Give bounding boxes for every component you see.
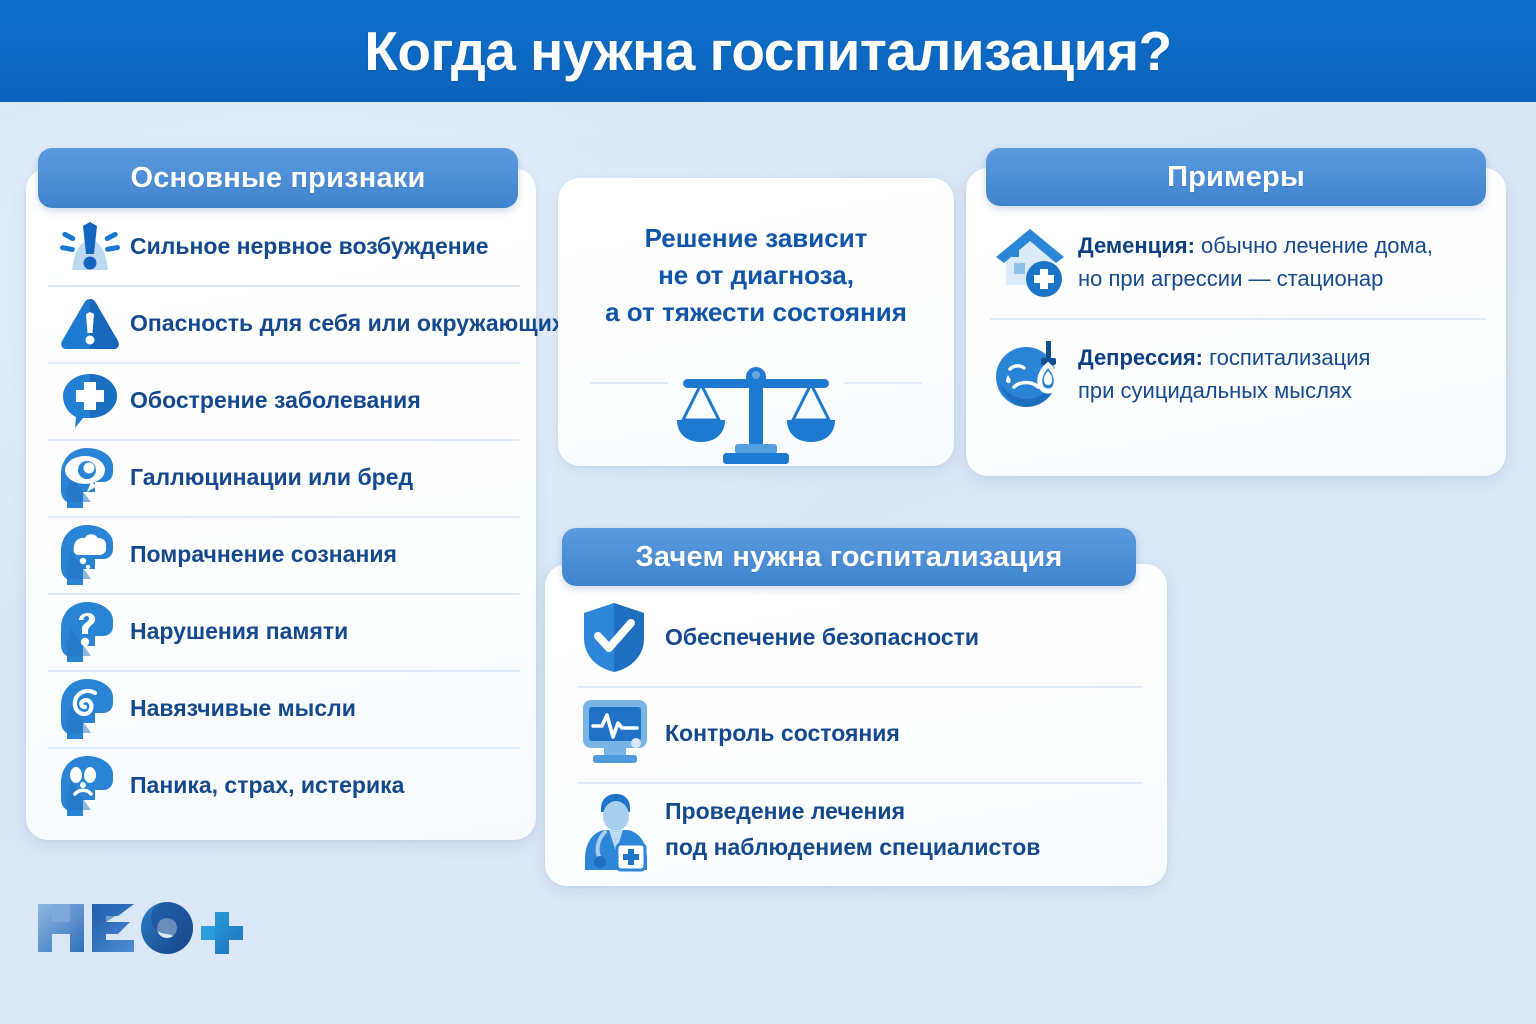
divider-left [590,382,668,384]
why-line-1: Проведение лечения [665,794,1040,830]
house-medical-icon [992,223,1070,301]
list-item[interactable]: Галлюцинации или бред [26,439,536,516]
why-line-1: Обеспечение безопасности [665,620,979,656]
head-eye-icon [54,447,126,509]
signs-card-title: Основные признаки [130,162,425,195]
why-card-title: Зачем нужна госпитализация [636,541,1063,574]
signs-card-header-pill: Основные признаки [38,148,518,208]
list-item[interactable]: Паника, страх, истерика [26,747,536,824]
medical-cross-bubble-icon [54,370,126,432]
header-band: Когда нужна госпитализация? [0,0,1536,102]
decision-line-1: Решение зависит [558,220,954,257]
list-item-label: Опасность для себя или окружающих [130,310,565,337]
list-item-label: Обострение заболевания [130,387,421,414]
examples-card-title: Примеры [1167,161,1305,194]
list-item[interactable]: Нарушения памяти [26,593,536,670]
why-text: Контроль состояния [665,716,900,752]
example-line-2: при суицидальных мыслях [1078,374,1370,407]
head-fear-icon [54,755,126,817]
list-item-label: Паника, страх, истерика [130,772,404,799]
list-item-label: Нарушения памяти [130,618,348,645]
decision-card: Решение зависит не от диагноза, а от тяж… [558,178,954,466]
decision-icon-area [558,364,954,464]
list-item[interactable]: Депрессия: госпитализация при суицидальн… [966,318,1506,430]
list-item[interactable]: Опасность для себя или окружающих [26,285,536,362]
doctor-kit-icon [579,792,655,868]
examples-list: Деменция: обычно лечение дома, но при аг… [966,206,1506,430]
decision-line-2: не от диагноза, [558,257,954,294]
decision-statement: Решение зависит не от диагноза, а от тяж… [558,220,954,331]
example-text: Деменция: обычно лечение дома, но при аг… [1078,229,1433,296]
head-question-icon [54,601,126,663]
page-title: Когда нужна госпитализация? [364,24,1171,79]
head-spiral-icon [54,678,126,740]
example-line-1: Депрессия: госпитализация [1078,341,1370,374]
example-line-2: но при агрессии — стационар [1078,262,1433,295]
warning-triangle-icon [54,293,126,355]
list-item[interactable]: Обострение заболевания [26,362,536,439]
list-item[interactable]: Навязчивые мысли [26,670,536,747]
why-card-header-pill: Зачем нужна госпитализация [562,528,1136,586]
example-term: Депрессия: [1078,345,1203,370]
list-item[interactable]: Контроль состояния [545,686,1167,782]
head-cloud-icon [54,524,126,586]
why-text: Обеспечение безопасности [665,620,979,656]
infographic-canvas: Когда нужна госпитализация? Основные при… [0,0,1536,1024]
list-item[interactable]: Обеспечение безопасности [545,590,1167,686]
example-line-1-rest: госпитализация [1203,345,1370,370]
list-item[interactable]: Сильное нервное возбуждение [26,208,536,285]
example-text: Депрессия: госпитализация при суицидальн… [1078,341,1370,408]
vital-monitor-icon [579,696,655,772]
shield-check-icon [579,600,655,676]
signs-list: Сильное нервное возбуждение Опасность дл… [26,208,536,824]
list-item[interactable]: Проведение лечения под наблюдением специ… [545,782,1167,878]
example-term: Деменция: [1078,233,1195,258]
decision-line-3: а от тяжести состояния [558,294,954,331]
why-line-2: под наблюдением специалистов [665,830,1040,866]
list-item-label: Сильное нервное возбуждение [130,233,489,260]
example-line-1-rest: обычно лечение дома, [1195,233,1433,258]
neo-plus-logo [36,896,246,960]
list-item-label: Навязчивые мысли [130,695,356,722]
why-line-1: Контроль состояния [665,716,900,752]
examples-card-header-pill: Примеры [986,148,1486,206]
list-item[interactable]: Помрачнение сознания [26,516,536,593]
sad-face-drop-icon [992,335,1070,413]
why-list: Обеспечение безопасности Контроль состоя… [545,590,1167,878]
balance-scales-icon [661,362,851,466]
divider-right [844,382,922,384]
why-text: Проведение лечения под наблюдением специ… [665,794,1040,866]
list-item[interactable]: Деменция: обычно лечение дома, но при аг… [966,206,1506,318]
example-line-1: Деменция: обычно лечение дома, [1078,229,1433,262]
exclamation-burst-icon [54,216,126,278]
list-item-label: Помрачнение сознания [130,541,397,568]
list-item-label: Галлюцинации или бред [130,464,413,491]
